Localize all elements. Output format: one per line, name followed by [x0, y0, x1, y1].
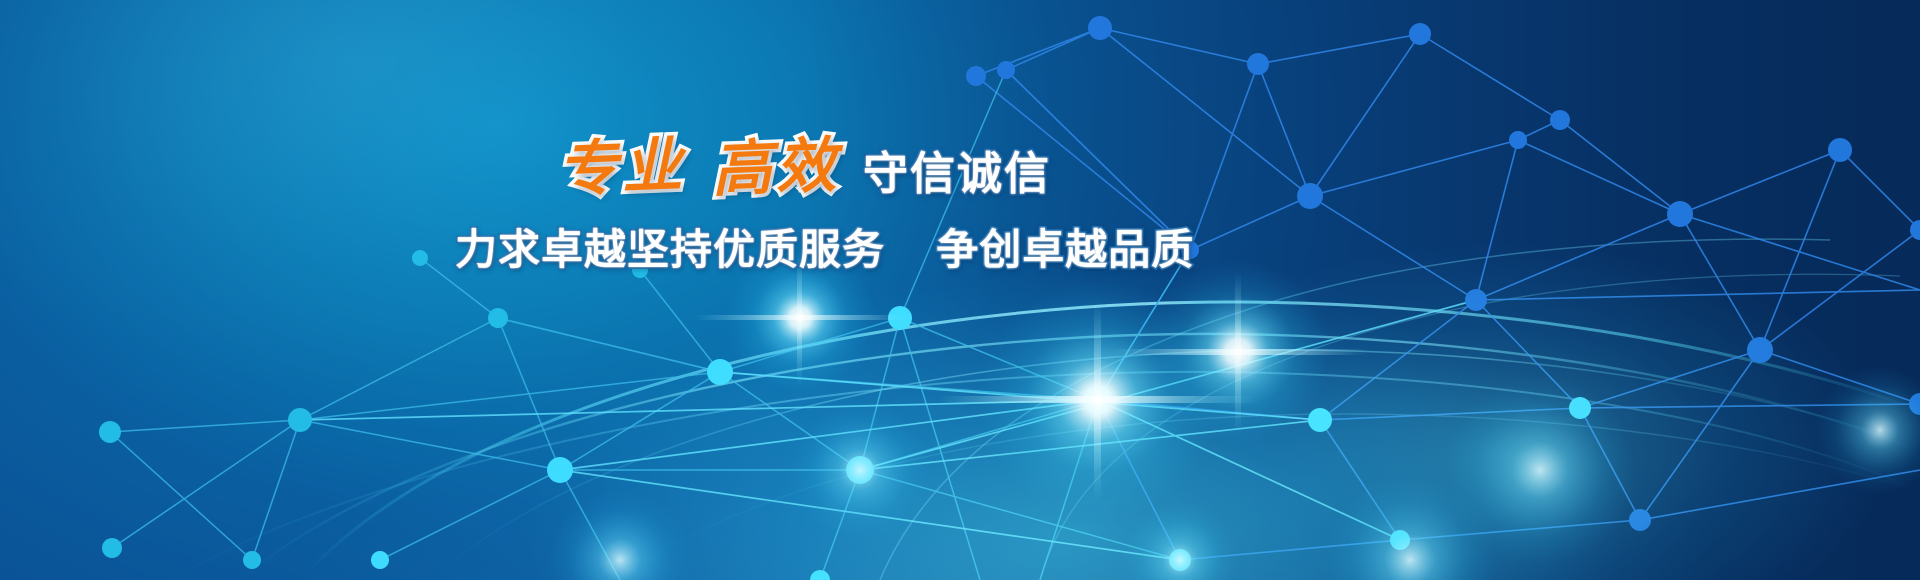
background-bottom-glow — [0, 0, 1920, 580]
promo-banner: 专业 高效 守信诚信 力求卓越坚持优质服务 争创卓越品质 — [0, 0, 1920, 580]
